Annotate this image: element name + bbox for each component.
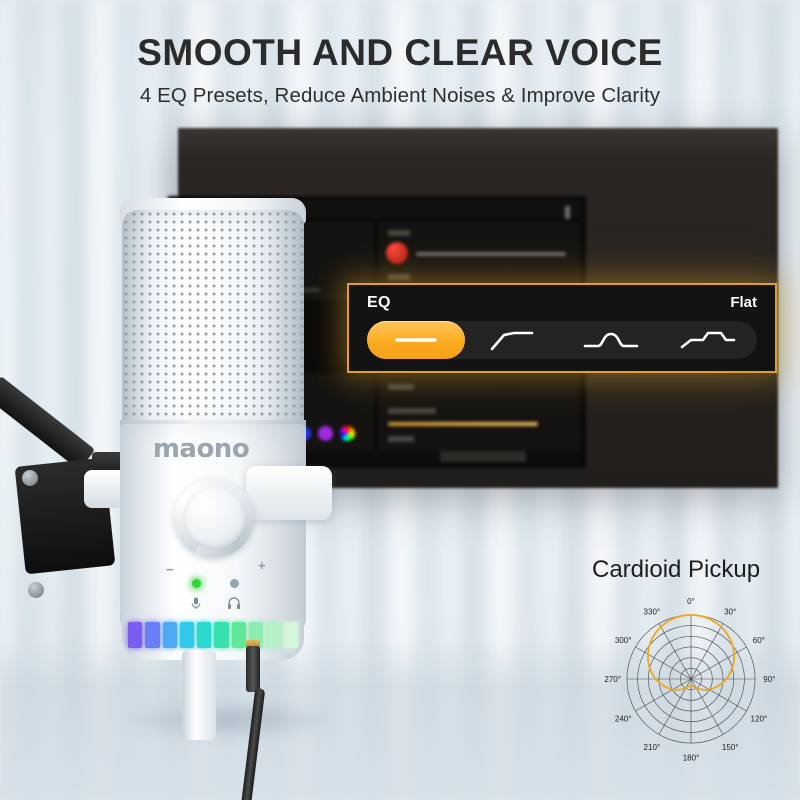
headphone-icon <box>227 596 241 610</box>
boom-arm-screw <box>22 470 38 486</box>
cardioid-title: Cardioid Pickup <box>592 556 797 584</box>
rgb-light-strip <box>128 622 298 648</box>
panel-slider <box>416 252 566 256</box>
eq-preset-mid-boost-button[interactable] <box>562 321 660 359</box>
page-subtitle: 4 EQ Presets, Reduce Ambient Noises & Im… <box>0 84 800 108</box>
microphone-icon <box>189 596 203 610</box>
eq-selected-preset-label: Flat <box>730 294 757 311</box>
panel-slider-amber <box>388 422 538 426</box>
rgb-segment <box>197 622 211 648</box>
polar-degree-label: 30° <box>724 607 736 616</box>
mic-grille <box>122 210 304 428</box>
polar-pattern-chart: 0°30°60°90°120°150°180°210°240°270°300°3… <box>600 590 782 768</box>
rgb-segment <box>128 622 142 648</box>
eq-stepped-plateau-icon <box>677 327 739 353</box>
polar-degree-label: 210° <box>644 743 661 752</box>
panel-label <box>388 436 414 442</box>
volume-knob-cap <box>183 487 245 549</box>
close-icon <box>565 206 570 219</box>
polar-degree-label: 330° <box>644 607 661 616</box>
eq-preset-low-shelf-button[interactable] <box>465 321 563 359</box>
panel-label <box>388 274 410 280</box>
eq-bell-curve-icon <box>580 327 642 353</box>
polar-degree-label: 240° <box>615 714 632 723</box>
boom-arm-screw <box>28 582 44 598</box>
maono-logo: maono <box>96 434 306 464</box>
polar-degree-label: 300° <box>615 636 632 645</box>
mic-stem <box>182 650 216 740</box>
page-title: SMOOTH AND CLEAR VOICE <box>0 32 800 74</box>
rgb-segment <box>266 622 280 648</box>
app-panel-settings <box>378 374 580 454</box>
microphone: maono − + <box>96 180 366 740</box>
volume-knob[interactable] <box>174 478 254 558</box>
eq-panel-label: EQ <box>367 294 391 312</box>
headphone-status-led <box>230 579 239 588</box>
rgb-segment <box>284 622 298 648</box>
polar-degree-label: 0° <box>687 597 695 606</box>
knob-plus-label: + <box>258 558 266 573</box>
rgb-segment <box>232 622 246 648</box>
polar-degree-label: 150° <box>722 743 739 752</box>
mic-status-led <box>192 579 201 588</box>
eq-panel: EQ Flat <box>347 283 777 373</box>
usb-cable-connector <box>246 646 260 692</box>
eq-flat-line-icon <box>387 330 445 350</box>
panel-label <box>388 384 414 390</box>
rgb-segment <box>214 622 228 648</box>
mic-yoke-mount <box>246 466 332 520</box>
polar-degree-label: 120° <box>751 714 768 723</box>
eq-preset-flat-button[interactable] <box>367 321 465 359</box>
polar-grid <box>627 615 755 743</box>
polar-degree-label: 60° <box>753 636 765 645</box>
panel-label <box>388 408 436 414</box>
knob-minus-label: − <box>166 562 174 577</box>
polar-degree-label: 180° <box>683 753 700 762</box>
record-button <box>386 242 408 264</box>
eq-step-ramp-icon <box>484 327 542 353</box>
panel-label <box>388 230 410 236</box>
eq-preset-group <box>367 321 757 359</box>
rgb-segment <box>145 622 159 648</box>
rgb-segment <box>163 622 177 648</box>
app-action-button <box>440 451 526 462</box>
polar-degree-label: 270° <box>604 675 621 684</box>
polar-degree-label: 90° <box>763 675 775 684</box>
eq-preset-presence-button[interactable] <box>660 321 758 359</box>
cardioid-section: Cardioid Pickup 0°30°60°90°120°150°180°2… <box>588 556 793 768</box>
rgb-segment <box>180 622 194 648</box>
